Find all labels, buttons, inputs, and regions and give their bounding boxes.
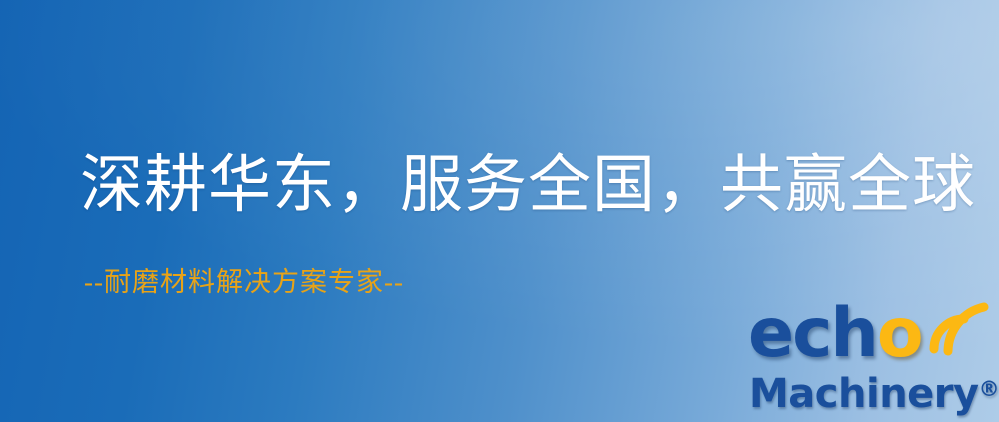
logo-wordmark-accent-letter: o (877, 294, 922, 373)
banner-subtitle: --耐磨材料解决方案专家-- (84, 266, 404, 298)
logo-wordmark: echo (748, 300, 922, 368)
signal-waves-icon (924, 295, 994, 357)
banner-headline: 深耕华东，服务全国，共赢全球 (80, 150, 976, 221)
registered-trademark-icon: ® (979, 377, 999, 401)
logo-subword: Machinery® (749, 367, 999, 416)
logo-wordmark-prefix: ech (748, 294, 877, 373)
logo-subword-text: Machinery (749, 371, 979, 417)
echo-machinery-logo[interactable]: echo Machinery® (748, 300, 996, 418)
hero-banner: 深耕华东，服务全国，共赢全球 --耐磨材料解决方案专家-- echo Machi… (0, 0, 999, 422)
